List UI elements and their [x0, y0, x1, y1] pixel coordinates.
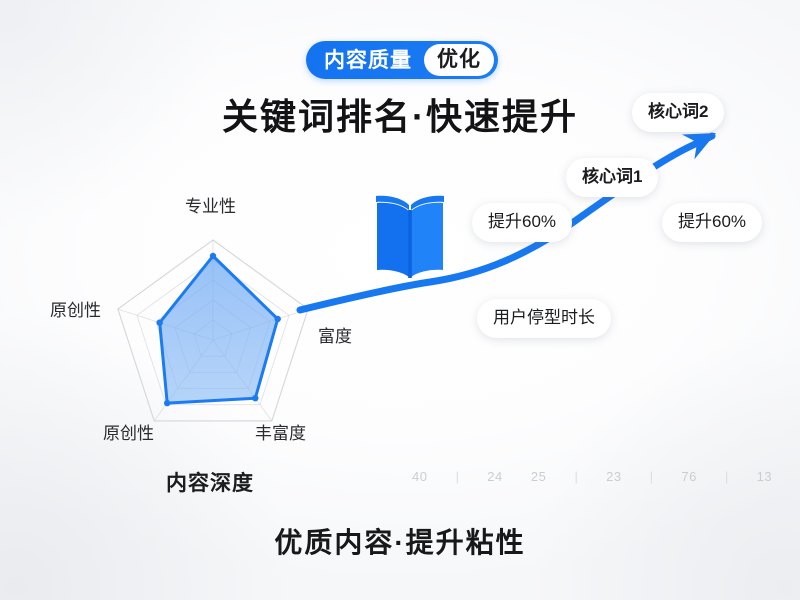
axis-tick-mark: |	[456, 469, 459, 484]
axis-tick-mark: |	[650, 469, 653, 484]
axis-tick-mark: |	[725, 469, 728, 484]
radar-chart: 专业性 富度 丰富度 原创性 原创性	[40, 190, 390, 460]
callout-uplift-left: 提升60%	[472, 203, 572, 242]
axis-tick-value: 76	[681, 469, 696, 484]
axis-tick-value: 24	[487, 469, 502, 484]
bottom-headline: 优质内容·提升粘性	[0, 521, 800, 561]
axis-tick-value: 13	[757, 469, 772, 484]
axis-tick-value: 23	[606, 469, 621, 484]
radar-data-area	[160, 256, 278, 403]
open-book-icon	[370, 186, 450, 282]
axis-tick-value: 25	[531, 469, 546, 484]
poster-canvas: 内容质量 优化 关键词排名·快速提升 专业性 富度 丰富度 原创性 原创性 内容…	[0, 0, 800, 600]
badge-main-label: 内容质量	[306, 50, 424, 71]
axis-tick-mark: |	[575, 469, 578, 484]
radar-axis-label-2: 丰富度	[255, 425, 306, 442]
callout-uplift-right: 提升60%	[662, 203, 762, 242]
open-book-icon-svg	[370, 186, 450, 282]
callout-dwell-time: 用户停型时长	[477, 299, 611, 338]
callout-core-keyword-1: 核心词1	[566, 158, 658, 197]
axis-tick-strip: 40|2425|23|76|13	[412, 465, 772, 487]
radar-caption: 内容深度	[166, 467, 254, 497]
radar-axis-label-4: 原创性	[50, 302, 101, 319]
callout-core-keyword-2: 核心词2	[632, 93, 724, 132]
axis-tick-value: 40	[412, 469, 427, 484]
radar-axis-label-3: 原创性	[103, 425, 154, 442]
content-quality-badge: 内容质量 优化	[306, 41, 498, 79]
radar-axis-label-1: 富度	[318, 328, 352, 345]
radar-axis-label-0: 专业性	[185, 198, 236, 215]
badge-chip-label: 优化	[424, 44, 494, 76]
radar-chart-svg	[40, 190, 390, 460]
